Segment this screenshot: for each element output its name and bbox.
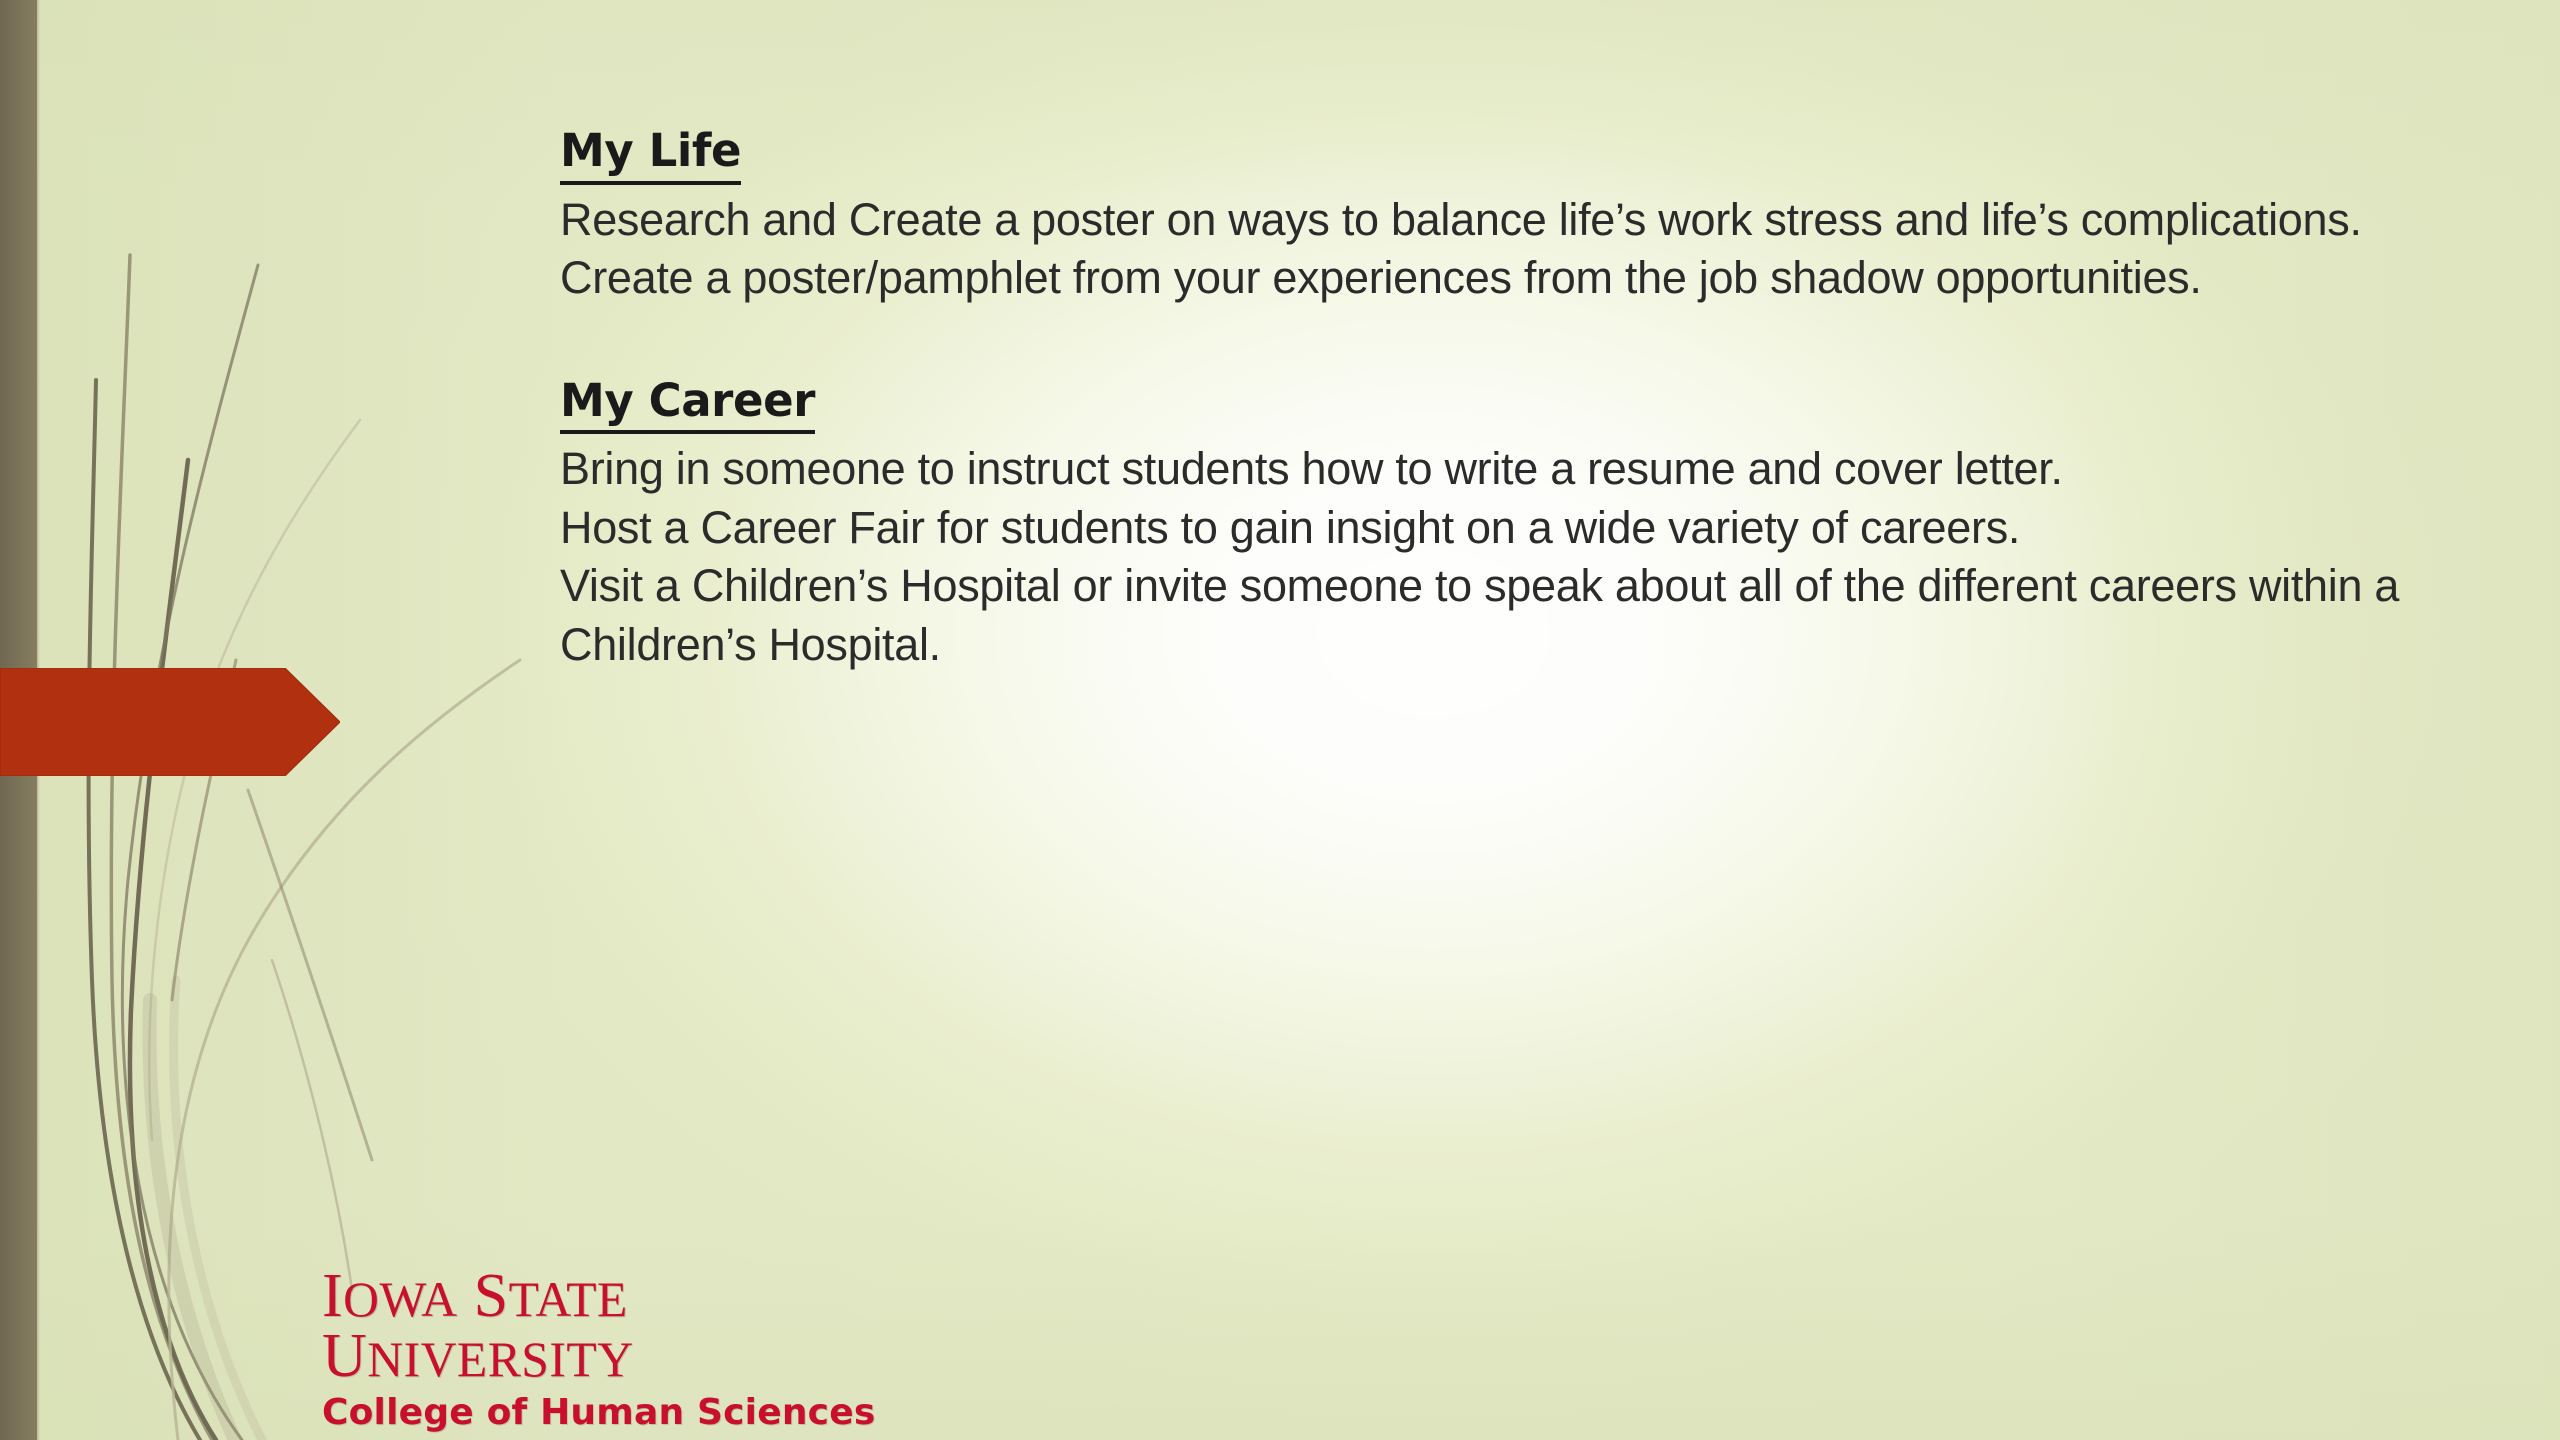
logo-letter-s: S [474,1262,509,1330]
section-heading-my-career: My Career [560,372,815,435]
section-paragraph: Host a Career Fair for students to gain … [560,499,2460,558]
section-my-life: My Life Research and Create a poster on … [560,122,2460,308]
logo-letters-owa: OWA [343,1272,457,1327]
logo-line-iowa-state: IOWA STATE [322,1266,1042,1326]
section-paragraph: Bring in someone to instruct students ho… [560,440,2460,499]
section-paragraph: Visit a Children’s Hospital or invite so… [560,557,2460,674]
section-paragraph: Research and Create a poster on ways to … [560,191,2460,250]
logo-letters-tate: TATE [509,1272,628,1327]
section-paragraph: Create a poster/pamphlet from your exper… [560,249,2460,308]
logo-line-university: UNIVERSITY [322,1326,1042,1386]
slide-body: My Life Research and Create a poster on … [560,122,2460,674]
iowa-state-university-logo: IOWA STATE UNIVERSITY College of Human S… [322,1266,1042,1433]
logo-letter-i: I [322,1262,343,1330]
logo-subtitle-college: College of Human Sciences [322,1392,1042,1433]
section-heading-my-life: My Life [560,122,741,185]
section-my-career: My Career Bring in someone to instruct s… [560,372,2460,675]
logo-letter-u: U [322,1322,367,1390]
presentation-slide: My Life Research and Create a poster on … [0,0,2560,1440]
logo-letters-niversity: NIVERSITY [367,1332,633,1387]
arrow-banner-icon [0,668,340,776]
